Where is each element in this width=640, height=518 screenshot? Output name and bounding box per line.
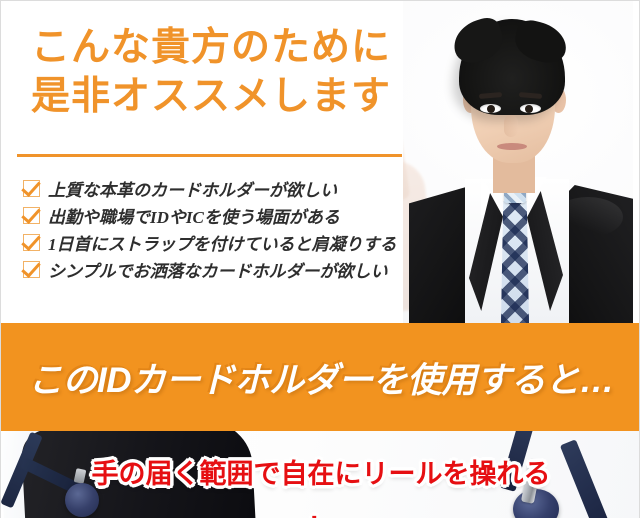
headline: こんな貴方のために 是非オススメします [31, 23, 431, 121]
nose [504, 115, 518, 137]
mouth [497, 143, 527, 150]
list-item-label: 出勤や職場でIDやICを使う場面がある [48, 203, 340, 228]
list-item-label: シンプルでお洒落なカードホルダーが欲しい [48, 257, 388, 282]
pupil-left [487, 105, 495, 113]
bottom-caption: 手の届く範囲で自在にリールを操れる [1, 452, 640, 491]
list-item: 上質な本革のカードホルダーが欲しい [23, 175, 493, 201]
orange-banner: このIDカードホルダーを使用すると… [1, 323, 640, 431]
list-item-label: 1日首にストラップを付けていると肩凝りする [48, 230, 397, 255]
list-item-label: 上質な本革のカードホルダーが欲しい [48, 176, 337, 201]
pupil-right [525, 105, 533, 113]
top-section: こんな貴方のために 是非オススメします 上質な本革のカードホルダーが欲しい 出勤… [1, 1, 640, 323]
list-item: 1日首にストラップを付けていると肩凝りする [23, 229, 493, 255]
list-item: シンプルでお洒落なカードホルダーが欲しい [23, 256, 493, 282]
bottom-photo-section: 手の届く範囲で自在にリールを操れる ！ [1, 431, 640, 518]
headline-line-2: 是非オススメします [31, 72, 431, 121]
shoulder-highlight [553, 197, 623, 237]
checklist: 上質な本革のカードホルダーが欲しい 出勤や職場でIDやICを使う場面がある 1日… [23, 175, 493, 283]
necktie-body [501, 201, 529, 323]
checkbox-checked-icon [23, 234, 40, 251]
checkbox-checked-icon [23, 261, 40, 278]
banner-text: このIDカードホルダーを使用すると… [28, 352, 614, 403]
headline-divider [17, 154, 402, 157]
list-item: 出勤や職場でIDやICを使う場面がある [23, 202, 493, 228]
bottom-caption-cut: ！ [1, 506, 640, 518]
headline-line-1: こんな貴方のために [31, 23, 431, 72]
checkbox-checked-icon [23, 180, 40, 197]
promo-page: こんな貴方のために 是非オススメします 上質な本革のカードホルダーが欲しい 出勤… [0, 0, 640, 518]
checkbox-checked-icon [23, 207, 40, 224]
